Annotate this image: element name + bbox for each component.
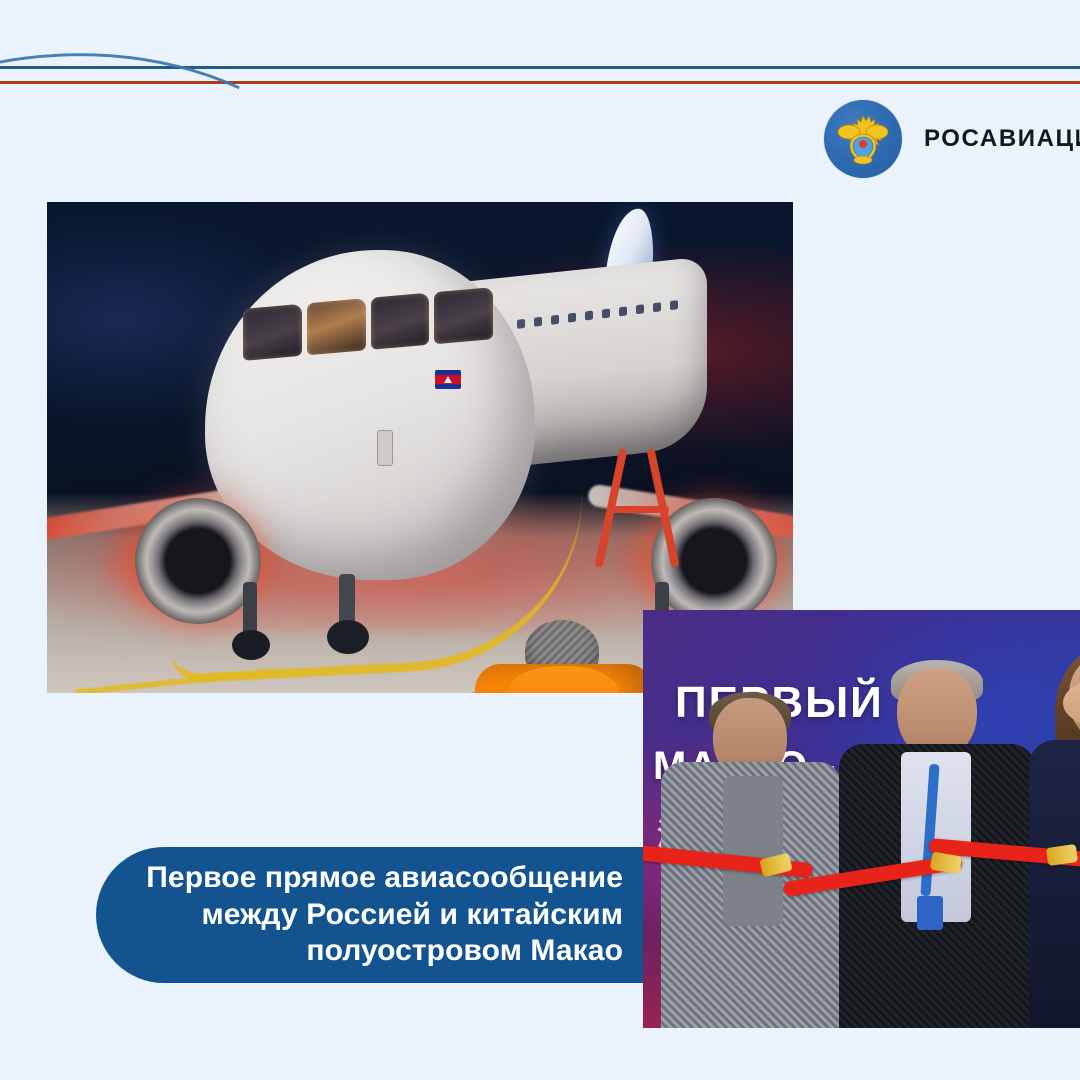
ground-crew-marshaller: Владивосток международный аэропорт	[471, 620, 657, 693]
person-right	[1029, 656, 1080, 1028]
main-landing-gear-left	[243, 582, 257, 640]
headline-line-3: полуостровом Макао	[146, 933, 623, 970]
person-center-badge	[917, 896, 943, 930]
forward-door	[377, 430, 393, 466]
double-headed-eagle-emblem	[824, 100, 902, 178]
ground-support-stand	[603, 448, 699, 578]
headline-line-1: Первое прямое авиасообщение	[146, 860, 623, 897]
headline-line-2: между Россией и китайским	[146, 897, 623, 934]
cambodia-flag-decal	[435, 370, 461, 389]
brand-logo: РОСАВИАЦИЯ	[824, 100, 1080, 178]
headline-banner: Первое прямое авиасообщение между Россие…	[96, 847, 645, 983]
nose-landing-gear	[339, 574, 355, 630]
ceremonial-ribbon	[643, 846, 1080, 886]
brand-wordmark: РОСАВИАЦИЯ	[924, 125, 1080, 153]
poster-canvas: РОСАВИАЦИЯ	[0, 0, 1080, 1080]
photo-ribbon-cutting: ПЕРВЫЙ РЕ МАКАО - ВЛАДИВОСТОК 澳 Y. 20 12…	[643, 610, 1080, 1028]
headline-text: Первое прямое авиасообщение между Россие…	[146, 860, 623, 970]
